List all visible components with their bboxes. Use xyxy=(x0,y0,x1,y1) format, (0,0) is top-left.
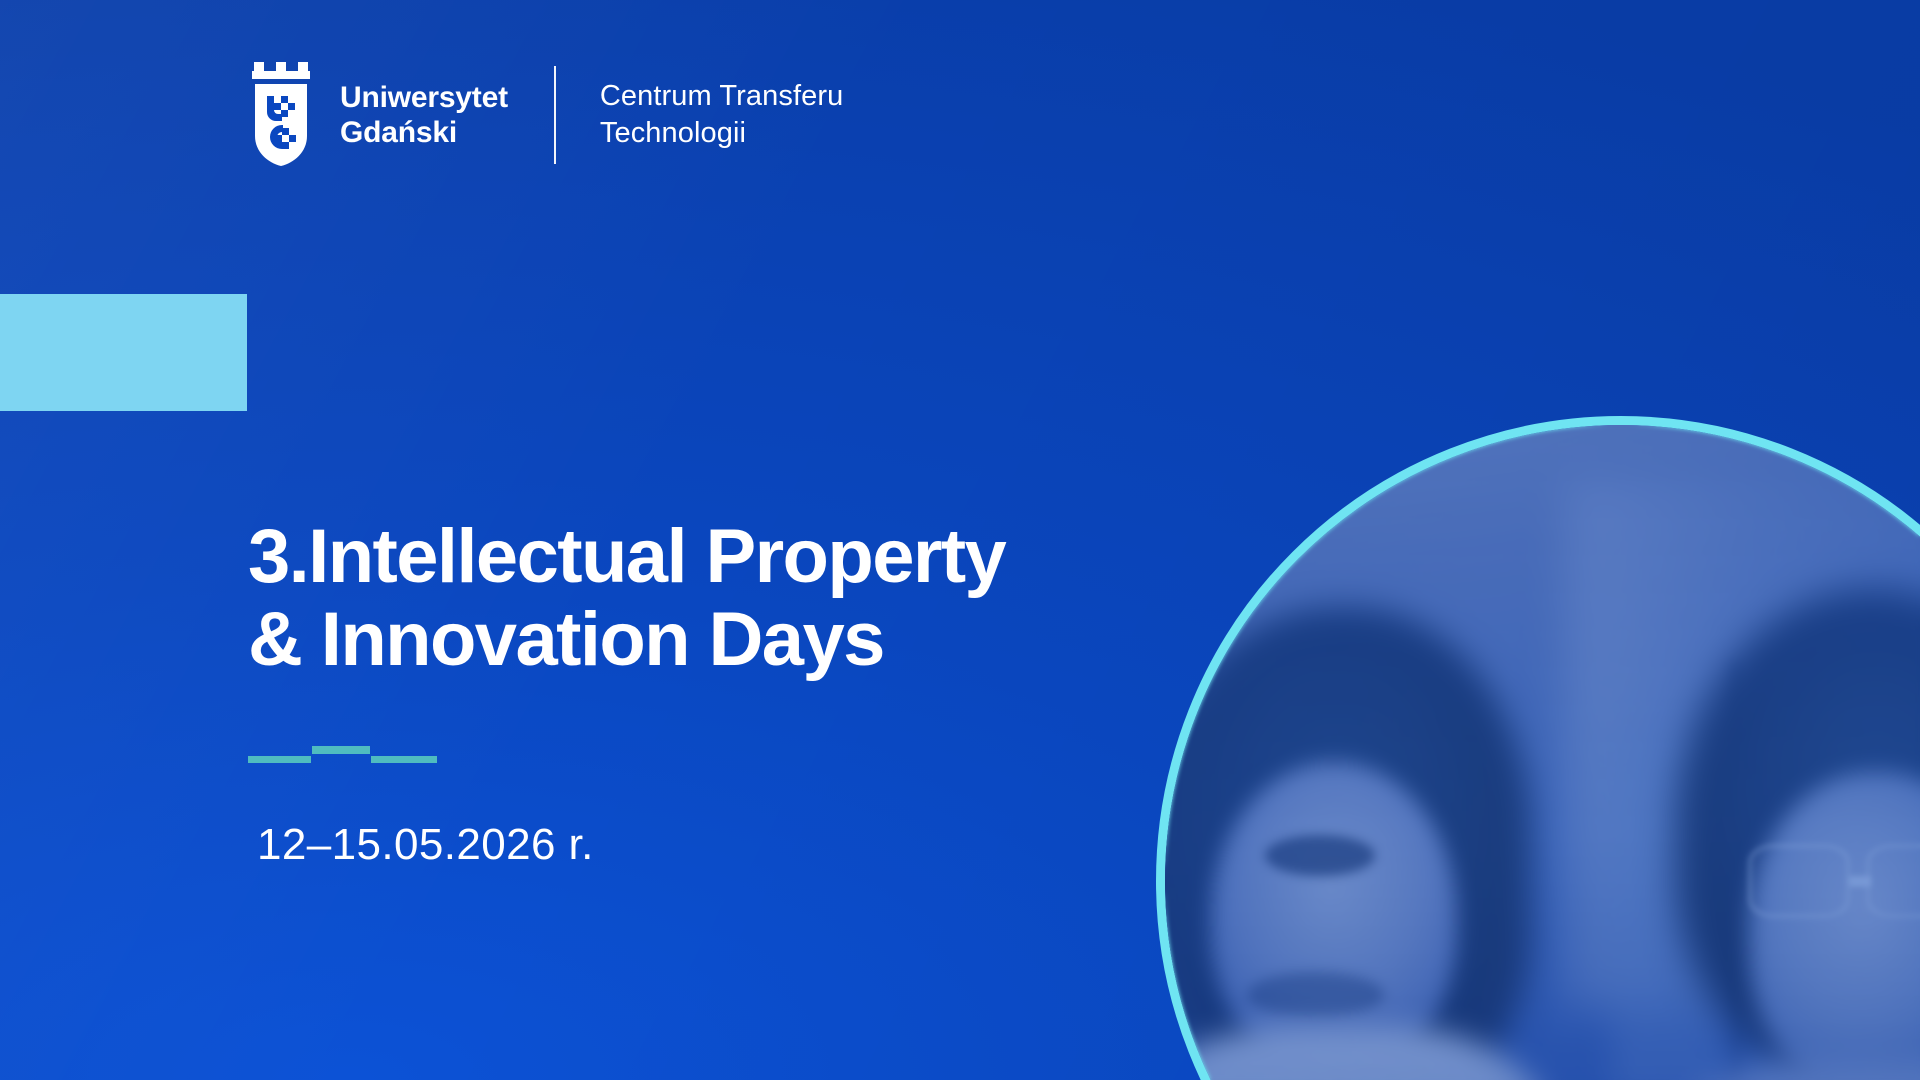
dash-segment-2 xyxy=(312,746,370,754)
page-title-line2: & Innovation Days xyxy=(248,599,1005,682)
university-wordmark-line1: Uniwersytet xyxy=(340,81,508,114)
university-wordmark: Uniwersytet Gdański xyxy=(340,80,508,151)
circular-photo-two-people xyxy=(1156,416,1920,1080)
event-date: 12–15.05.2026 r. xyxy=(257,820,594,870)
logo-divider xyxy=(554,66,556,164)
logo-lockup[interactable]: Uniwersytet Gdański Centrum Transferu Te… xyxy=(248,62,843,168)
unit-name: Centrum Transferu Technologii xyxy=(600,78,843,152)
page-title: 3.Intellectual Property & Innovation Day… xyxy=(248,516,1005,682)
light-blue-accent-rectangle xyxy=(0,294,247,411)
photo-inner xyxy=(1165,425,1920,1080)
unit-name-line1: Centrum Transferu xyxy=(600,80,843,112)
dash-segment-1 xyxy=(248,756,311,763)
decorative-dash-rule xyxy=(248,742,448,766)
unit-name-line2: Technologii xyxy=(600,115,843,152)
photo-soft-focus xyxy=(1165,425,1920,1080)
event-poster: Uniwersytet Gdański Centrum Transferu Te… xyxy=(0,0,1920,1080)
page-title-line1: 3.Intellectual Property xyxy=(248,514,1005,599)
uniwersytet-gdanski-shield-crest-icon xyxy=(248,62,314,168)
dash-segment-3 xyxy=(371,756,437,763)
university-wordmark-line2: Gdański xyxy=(340,115,508,150)
